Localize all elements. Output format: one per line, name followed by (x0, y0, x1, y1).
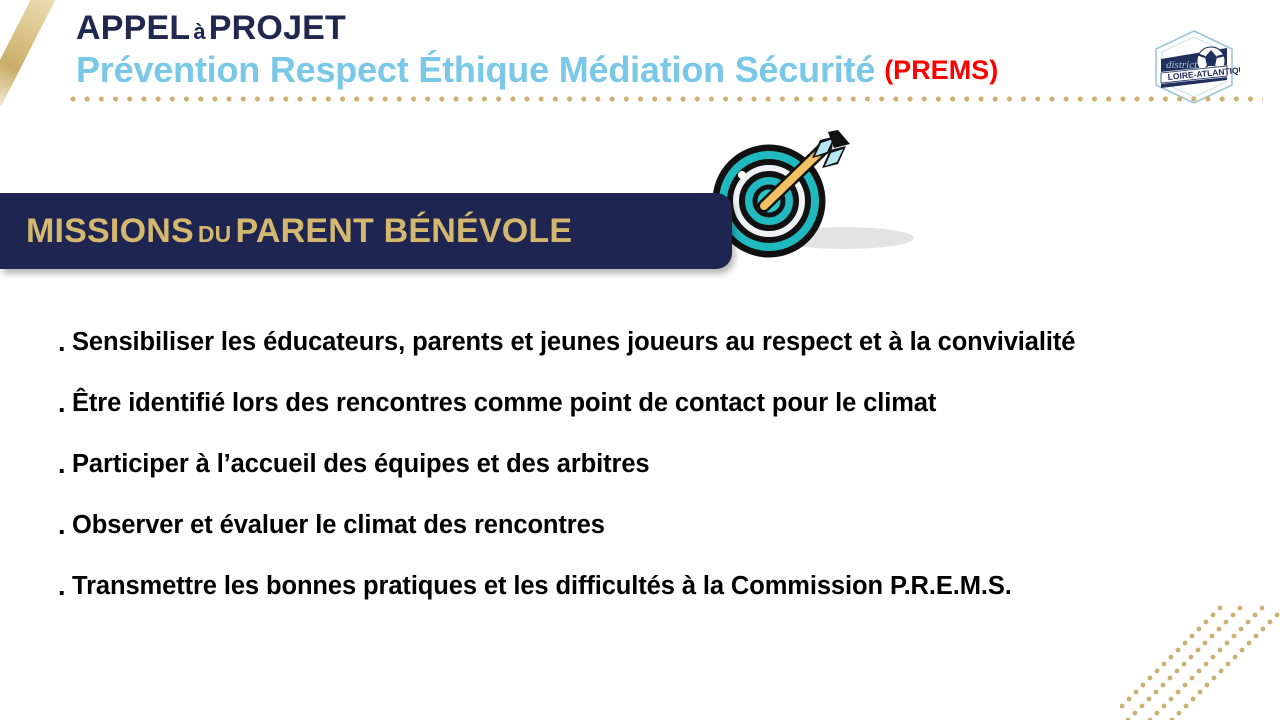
page-title: APPELàPROJET (76, 8, 346, 52)
missions-list: . Sensibiliser les éducateurs, parents e… (58, 312, 1248, 617)
section-banner-title: MISSIONSDUPARENT BÉNÉVOLE (0, 212, 572, 251)
page-subtitle-acronym: (PREMS) (875, 55, 998, 85)
bullet-marker: . (58, 327, 72, 358)
gold-dotted-separator (70, 96, 1263, 102)
section-title-part2: PARENT BÉNÉVOLE (235, 212, 572, 250)
bullet-marker: . (58, 571, 72, 602)
list-item-label: Observer et évaluer le climat des rencon… (72, 511, 605, 540)
list-item-label: Participer à l’accueil des équipes et de… (72, 450, 650, 479)
district-loire-atlantique-logo: district LOIRE-ATLANTIQUE (1148, 28, 1240, 106)
page-title-connector: à (190, 19, 208, 44)
list-item: . Participer à l’accueil des équipes et … (58, 434, 1248, 495)
list-item-label: Être identifié lors des rencontres comme… (72, 389, 936, 418)
list-item-label: Transmettre les bonnes pratiques et les … (72, 572, 1012, 601)
page-subtitle-text: Prévention Respect Éthique Médiation Séc… (76, 49, 875, 90)
bullet-marker: . (58, 449, 72, 480)
bullet-marker: . (58, 388, 72, 419)
list-item: . Observer et évaluer le climat des renc… (58, 495, 1248, 556)
list-item-label: Sensibiliser les éducateurs, parents et … (72, 328, 1075, 357)
list-item: . Sensibiliser les éducateurs, parents e… (58, 312, 1248, 373)
list-item: . Transmettre les bonnes pratiques et le… (58, 556, 1248, 617)
section-title-part1: MISSIONS (26, 212, 194, 250)
slide-root: { "header": { "title_main": "APPEL", "ti… (0, 0, 1280, 720)
bullet-marker: . (58, 510, 72, 541)
page-subtitle: Prévention Respect Éthique Médiation Séc… (76, 48, 998, 100)
list-item: . Être identifié lors des rencontres com… (58, 373, 1248, 434)
header: APPELàPROJET Prévention Respect Éthique … (0, 0, 1280, 118)
page-title-part1: APPEL (76, 9, 190, 47)
section-banner: MISSIONSDUPARENT BÉNÉVOLE (0, 193, 732, 269)
section-title-connector: DU (194, 221, 236, 247)
page-title-part2: PROJET (209, 9, 346, 47)
